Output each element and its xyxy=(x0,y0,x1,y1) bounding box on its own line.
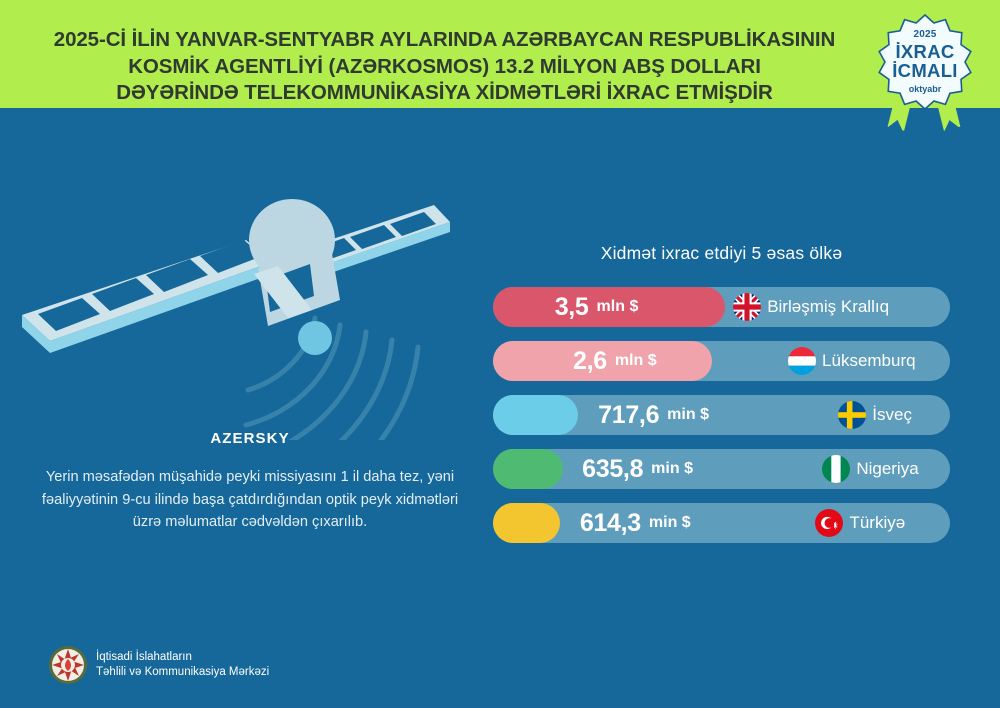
badge-text-group: 2025 İXRAC İCMALI oktyabr xyxy=(875,12,975,112)
bar-country-label: Nigeriya xyxy=(856,449,918,489)
bar-fill xyxy=(493,395,578,435)
badge-line-1: İXRAC xyxy=(895,43,954,62)
bar-value-unit: mln $ xyxy=(597,298,639,316)
bar-country-label: Türkiyə xyxy=(849,503,905,543)
chart-heading: Xidmət ixrac etdiyi 5 əsas ölkə xyxy=(493,243,950,264)
bar-value-unit: min $ xyxy=(649,514,691,532)
footer-organization: İqtisadi İslahatların Təhlili və Kommuni… xyxy=(96,650,269,680)
header-banner: 2025-Cİ İLİN YANVAR-SENTYABR AYLARINDA A… xyxy=(0,0,1000,108)
flag-luxembourg-icon xyxy=(788,347,816,375)
satellite-illustration xyxy=(10,100,480,440)
azersky-caption-text: Yerin məsafədən müşahidə peyki missiyası… xyxy=(35,466,465,534)
azersky-caption-title: AZERSKY xyxy=(40,430,460,447)
bar-value-number: 614,3 xyxy=(580,509,641,538)
export-review-badge: 2025 İXRAC İCMALI oktyabr xyxy=(862,8,988,130)
bar-value-number: 3,5 xyxy=(555,293,589,322)
bar-country-label: İsveç xyxy=(872,395,912,435)
bar-value-unit: min $ xyxy=(667,406,709,424)
bar-value-unit: mln $ xyxy=(615,352,657,370)
footer-line-2: Təhlili və Kommunikasiya Mərkəzi xyxy=(96,665,269,680)
bar-fill xyxy=(493,449,563,489)
footer-line-1: İqtisadi İslahatların xyxy=(96,650,269,665)
badge-month: oktyabr xyxy=(909,85,942,94)
flag-nigeria-icon xyxy=(822,455,850,483)
bar-row: 635,8min $Nigeriya xyxy=(493,449,950,489)
bar-value-label: 717,6min $ xyxy=(598,395,709,435)
bar-value-label: 2,6mln $ xyxy=(573,341,657,381)
signal-waves-icon xyxy=(246,318,418,440)
bar-value-number: 2,6 xyxy=(573,347,607,376)
bar-value-label: 635,8min $ xyxy=(582,449,693,489)
bar-fill xyxy=(493,503,560,543)
title-line-2: KOSMİK AGENTLİYİ (AZƏRKOSMOS) 13.2 MİLYO… xyxy=(22,54,867,81)
satellite-body xyxy=(249,199,340,355)
bar-value-number: 635,8 xyxy=(582,455,643,484)
page-title: 2025-Cİ İLİN YANVAR-SENTYABR AYLARINDA A… xyxy=(22,27,867,107)
badge-line-2: İCMALI xyxy=(892,62,958,81)
bar-country-label: Birləşmiş Krallıq xyxy=(767,287,889,327)
infographic-page: 2025-Cİ İLİN YANVAR-SENTYABR AYLARINDA A… xyxy=(0,0,1000,708)
bar-value-number: 717,6 xyxy=(598,401,659,430)
bar-value-label: 614,3min $ xyxy=(580,503,691,543)
badge-year: 2025 xyxy=(913,30,936,40)
bar-value-label: 3,5mln $ xyxy=(555,287,639,327)
chart-bar-list: 3,5mln $Birləşmiş Krallıq2,6mln $Lüksemb… xyxy=(493,287,950,557)
bar-country-label: Lüksemburq xyxy=(822,341,916,381)
flag-sweden-icon xyxy=(838,401,866,429)
bar-row: 614,3min $Türkiyə xyxy=(493,503,950,543)
bar-row: 3,5mln $Birləşmiş Krallıq xyxy=(493,287,950,327)
flag-turkiye-icon xyxy=(815,509,843,537)
solar-panel-left xyxy=(22,240,272,353)
bar-row: 717,6min $İsveç xyxy=(493,395,950,435)
flag-united-kingdom-icon xyxy=(733,293,761,321)
center-emblem-logo-icon xyxy=(48,645,88,685)
bar-value-unit: min $ xyxy=(651,460,693,478)
title-line-1: 2025-Cİ İLİN YANVAR-SENTYABR AYLARINDA A… xyxy=(22,27,867,54)
bar-row: 2,6mln $Lüksemburq xyxy=(493,341,950,381)
